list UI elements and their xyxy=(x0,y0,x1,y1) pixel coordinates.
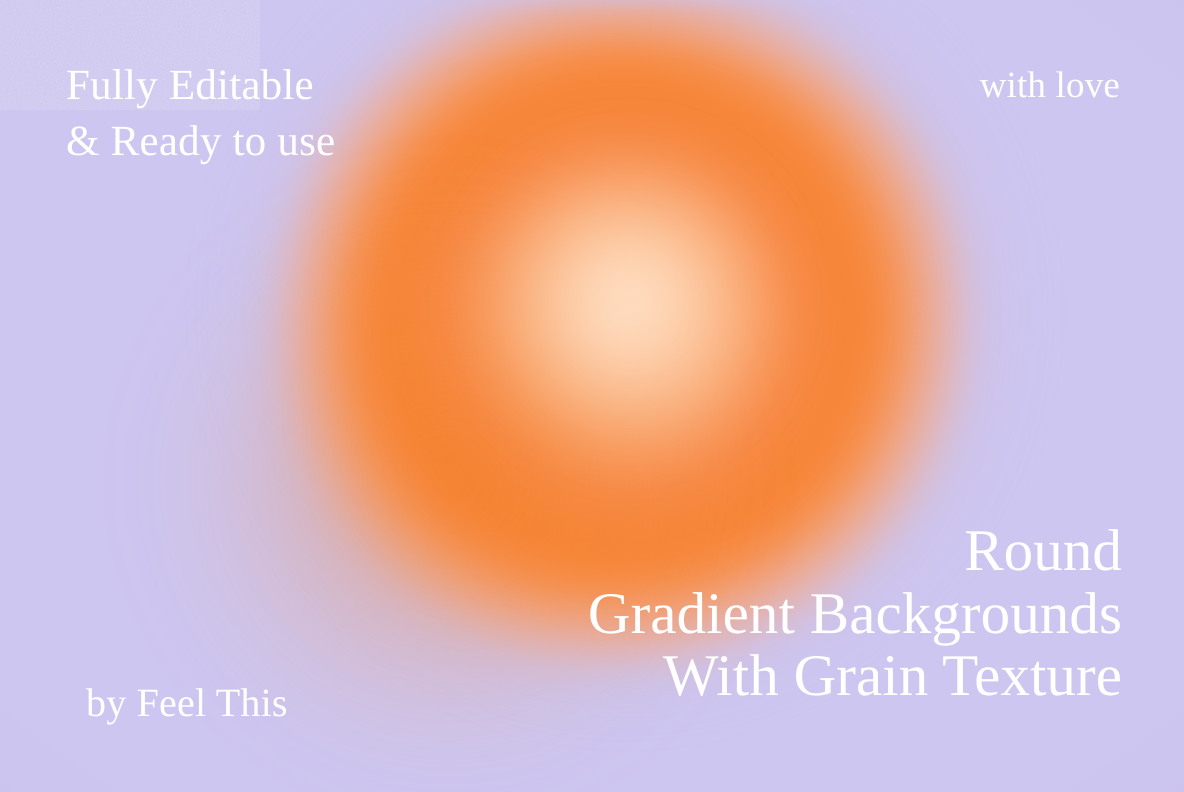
headline-line-1: Round xyxy=(588,519,1122,582)
tagline-line-2: & Ready to use xyxy=(66,114,335,170)
headline-line-3: With Grain Texture xyxy=(588,644,1122,707)
tagline-line-1: Fully Editable xyxy=(66,58,335,114)
headline-line-2: Gradient Backgrounds xyxy=(588,582,1122,645)
with-love-label: with love xyxy=(980,66,1120,107)
tagline: Fully Editable & Ready to use xyxy=(66,58,335,171)
headline: Round Gradient Backgrounds With Grain Te… xyxy=(588,519,1122,707)
byline-label: by Feel This xyxy=(86,681,288,725)
poster-canvas: Fully Editable & Ready to use with love … xyxy=(0,0,1184,792)
